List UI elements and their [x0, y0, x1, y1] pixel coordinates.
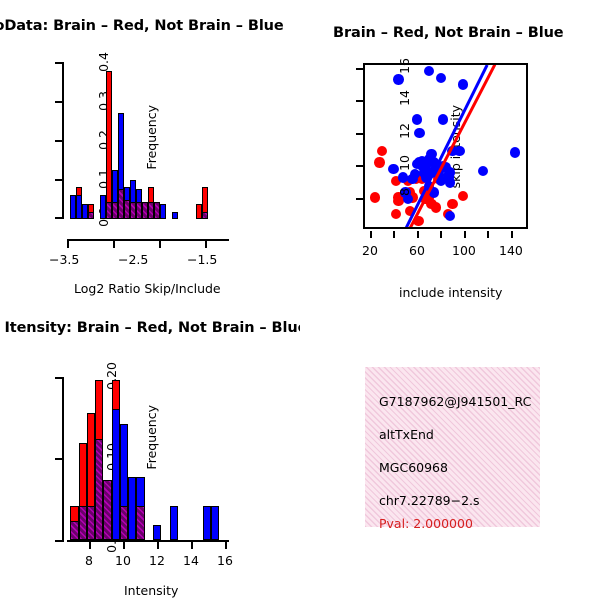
ratio-xtick-label-1: −2.5 [118, 252, 148, 267]
ratio-histogram-title-clip: RatioData: Brain – Red, Not Brain – Blue [0, 18, 300, 40]
histogram-bar [202, 212, 208, 220]
intensity-xtick-label-4: 16 [217, 553, 233, 568]
scatter-x-tick-60 [417, 231, 419, 238]
intensity-histogram-title-clip: Gene Itensity: Brain – Red, Not Brain – … [0, 320, 300, 344]
scatter-point [414, 128, 424, 138]
histogram-bar [203, 506, 211, 540]
ratio-histogram-xlabel: Log2 Ratio Skip/Include [74, 281, 221, 296]
histogram-bar [154, 202, 160, 219]
histogram-bar [112, 409, 120, 540]
histogram-bar [128, 477, 136, 541]
scatter-y-tick-8 [356, 198, 363, 200]
ratio-histogram-title: RatioData: Brain – Red, Not Brain – Blue [0, 18, 284, 34]
scatter-point [431, 202, 441, 212]
scatter-xtick-label-1: 60 [409, 243, 425, 258]
intensity-y-tick-0.00 [55, 540, 62, 542]
histogram-bar [79, 506, 87, 540]
intensity-histogram-ylabel: Frequency [144, 405, 159, 525]
intensity-x-tick-8 [89, 542, 91, 549]
info-locus: chr7.22789−2.s [379, 493, 480, 508]
scatter-x-tick-20 [370, 231, 372, 238]
intensity-y-tick-0.20 [55, 377, 62, 379]
histogram-bar [170, 506, 178, 540]
histogram-bar [87, 506, 95, 540]
scatter-ytick-label-0: 8 [397, 188, 412, 232]
histogram-bar [103, 480, 111, 540]
scatter-point [436, 73, 446, 83]
histogram-bar [160, 204, 166, 219]
intensity-histogram-title: Gene Itensity: Brain – Red, Not Brain – … [0, 320, 300, 336]
scatter-point [445, 167, 455, 177]
intensity-histogram-x-axis [67, 540, 229, 542]
ratio-x-tick-a [67, 241, 69, 248]
scatter-point [445, 211, 455, 221]
intensity-y-tick-0.10 [55, 458, 62, 460]
intensity-xtick-label-0: 8 [85, 553, 93, 568]
scatter-x-tick-m3 [487, 231, 489, 238]
histogram-bar [153, 525, 161, 540]
intensity-x-tick-10 [123, 542, 125, 549]
scatter-point [370, 192, 380, 202]
scatter-point [510, 147, 520, 157]
intensity-x-tick-12 [157, 542, 159, 549]
scatter-x-tick-140 [511, 231, 513, 238]
scatter-point [447, 199, 457, 209]
ratio-x-tick-b [113, 241, 115, 248]
scatter-title: Brain – Red, Not Brain – Blue [333, 25, 564, 41]
ratio-x-tick-d [205, 241, 207, 248]
scatter-point [412, 114, 422, 124]
intensity-xtick-label-2: 12 [149, 553, 165, 568]
scatter-point [445, 177, 455, 187]
gene-info-box: G7187962@J941501_RC altTxEnd MGC60968 ch… [365, 367, 540, 527]
scatter-point [478, 166, 488, 176]
intensity-xtick-label-1: 10 [115, 553, 131, 568]
scatter-clip [365, 65, 526, 227]
scatter-xtick-label-2: 100 [452, 243, 476, 258]
intensity-histogram-xlabel: Intensity [124, 583, 178, 598]
scatter-xtick-label-0: 20 [362, 243, 378, 258]
scatter-y-tick-16 [356, 68, 363, 70]
scatter-point [458, 191, 468, 201]
ratio-xtick-label-2: −1.5 [187, 252, 217, 267]
ratio-x-tick-c [159, 241, 161, 248]
scatter-x-tick-m2 [440, 231, 442, 238]
ratio-y-tick-0.3 [55, 101, 62, 103]
histogram-bar [136, 506, 144, 540]
scatter-point [424, 66, 434, 76]
info-gene-symbol: MGC60968 [379, 460, 448, 475]
info-probe-id: G7187962@J941501_RC [379, 394, 531, 409]
ratio-y-tick-0.4 [55, 62, 62, 64]
intensity-x-tick-14 [191, 542, 193, 549]
histogram-bar [88, 212, 94, 220]
scatter-xlabel: include intensity [399, 285, 502, 300]
scatter-y-tick-14 [356, 100, 363, 102]
scatter-point [374, 157, 384, 167]
scatter-y-tick-12 [356, 133, 363, 135]
intensity-xtick-label-3: 14 [183, 553, 199, 568]
ratio-y-tick-0.1 [55, 179, 62, 181]
scatter-point [438, 114, 448, 124]
scatter-xtick-label-3: 140 [499, 243, 523, 258]
ratio-xtick-label-0: −3.5 [49, 252, 79, 267]
scatter-point [377, 146, 387, 156]
histogram-bar [95, 439, 103, 540]
histogram-bar [70, 521, 78, 540]
ratio-y-tick-0.0 [55, 217, 62, 219]
intensity-histogram-y-axis [62, 377, 64, 542]
ratio-histogram-y-axis [62, 62, 64, 219]
histogram-bar [120, 506, 128, 540]
scatter-point [454, 146, 464, 156]
histogram-bar [211, 506, 219, 540]
scatter-x-tick-m1 [393, 231, 395, 238]
scatter-y-tick-10 [356, 165, 363, 167]
intensity-x-tick-16 [225, 542, 227, 549]
info-pval: Pval: 2.000000 [379, 516, 473, 531]
scatter-point [458, 79, 468, 89]
scatter-x-tick-100 [464, 231, 466, 238]
histogram-bar [172, 212, 178, 220]
info-event-type: altTxEnd [379, 427, 434, 442]
ratio-y-tick-0.2 [55, 140, 62, 142]
